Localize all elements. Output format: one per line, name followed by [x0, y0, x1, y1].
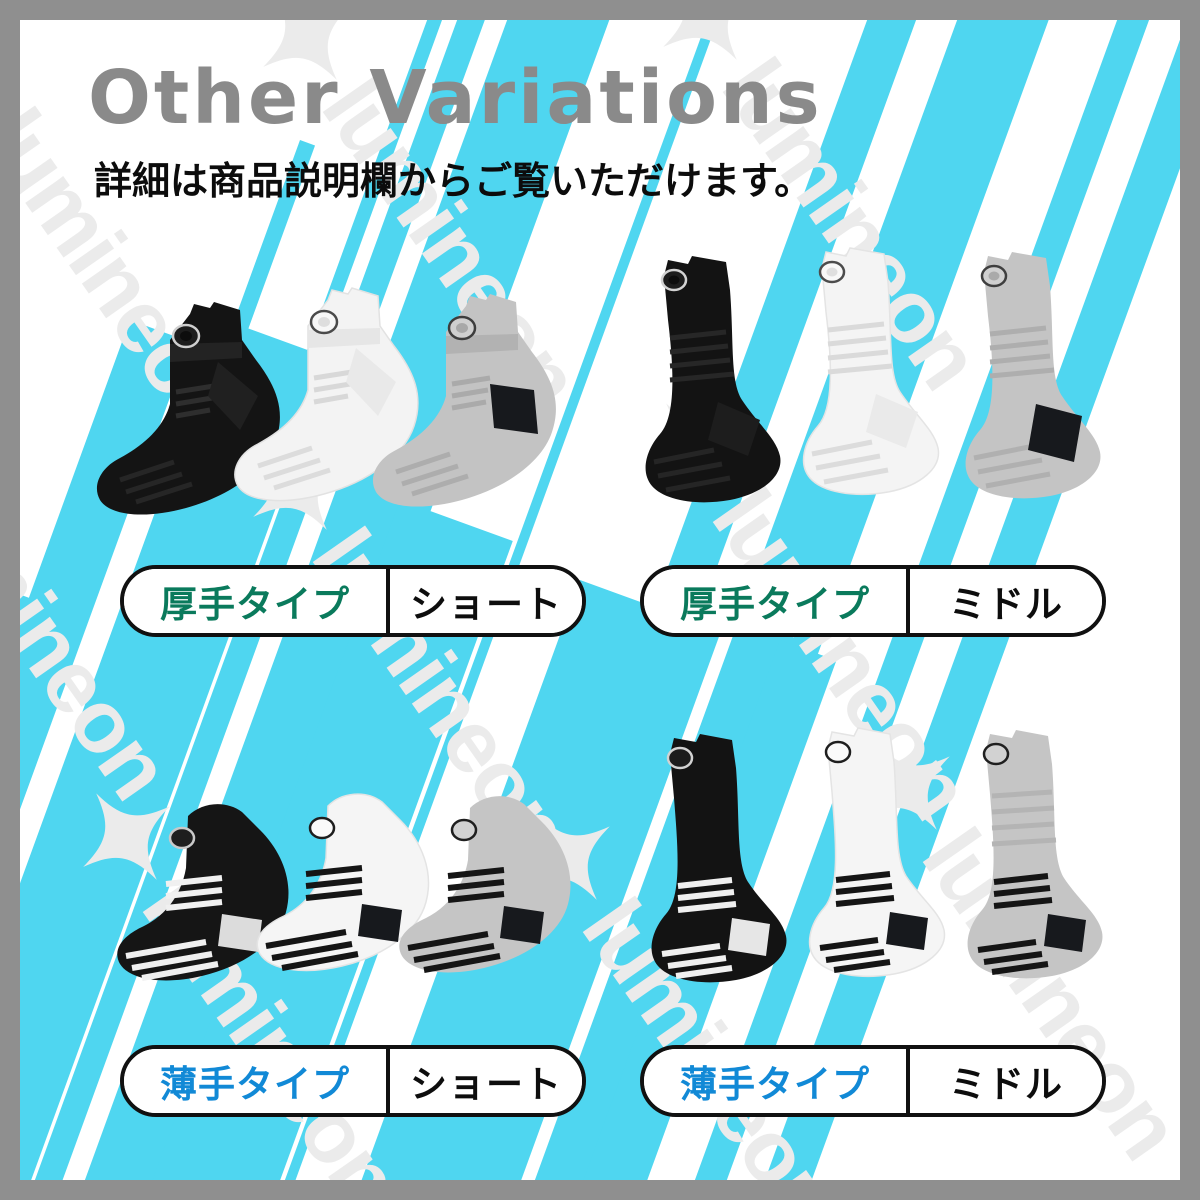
- pill-thickness-label: 厚手タイプ: [124, 569, 386, 633]
- sock-photo-row: [620, 220, 1160, 550]
- sock-photo-row: [630, 710, 1160, 1040]
- page-subtitle: 詳細は商品説明欄からご覧いただけます。: [94, 150, 823, 205]
- sock-photo-row: [100, 760, 620, 1040]
- variation-group-thin-short: [100, 760, 620, 1040]
- stripe: [20, 580, 46, 1180]
- page-title: Other Variations: [88, 60, 823, 138]
- image-frame: lumineon lumineon lumineon lumineon: [0, 0, 1200, 1200]
- pill-length-label: ショート: [386, 569, 582, 633]
- pill-length-label: ミドル: [906, 1049, 1102, 1113]
- sock-photo-row: [80, 250, 590, 550]
- pill-thickness-label: 薄手タイプ: [644, 1049, 906, 1113]
- variation-group-thin-middle: [630, 710, 1160, 1040]
- sock-thin-short-gray: [392, 782, 632, 1022]
- pill-length-label: ミドル: [906, 569, 1102, 633]
- pill-thickness-label: 厚手タイプ: [644, 569, 906, 633]
- header-block: Other Variations 詳細は商品説明欄からご覧いただけます。: [88, 60, 823, 205]
- four-point-star-icon: [20, 20, 43, 143]
- sock-thin-middle-gray: [956, 726, 1180, 1026]
- label-pill-thin-middle[interactable]: 薄手タイプ ミドル: [640, 1045, 1106, 1117]
- label-pill-thick-middle[interactable]: 厚手タイプ ミドル: [640, 565, 1106, 637]
- pill-length-label: ショート: [386, 1049, 582, 1113]
- variation-group-thick-short: [80, 250, 590, 550]
- variation-group-thick-middle: [620, 220, 1160, 550]
- label-pill-thick-short[interactable]: 厚手タイプ ショート: [120, 565, 586, 637]
- sock-thick-middle-gray: [950, 246, 1180, 546]
- sock-thick-short-gray: [366, 292, 606, 542]
- pill-thickness-label: 薄手タイプ: [124, 1049, 386, 1113]
- label-pill-thin-short[interactable]: 薄手タイプ ショート: [120, 1045, 586, 1117]
- image-canvas: lumineon lumineon lumineon lumineon: [20, 20, 1180, 1180]
